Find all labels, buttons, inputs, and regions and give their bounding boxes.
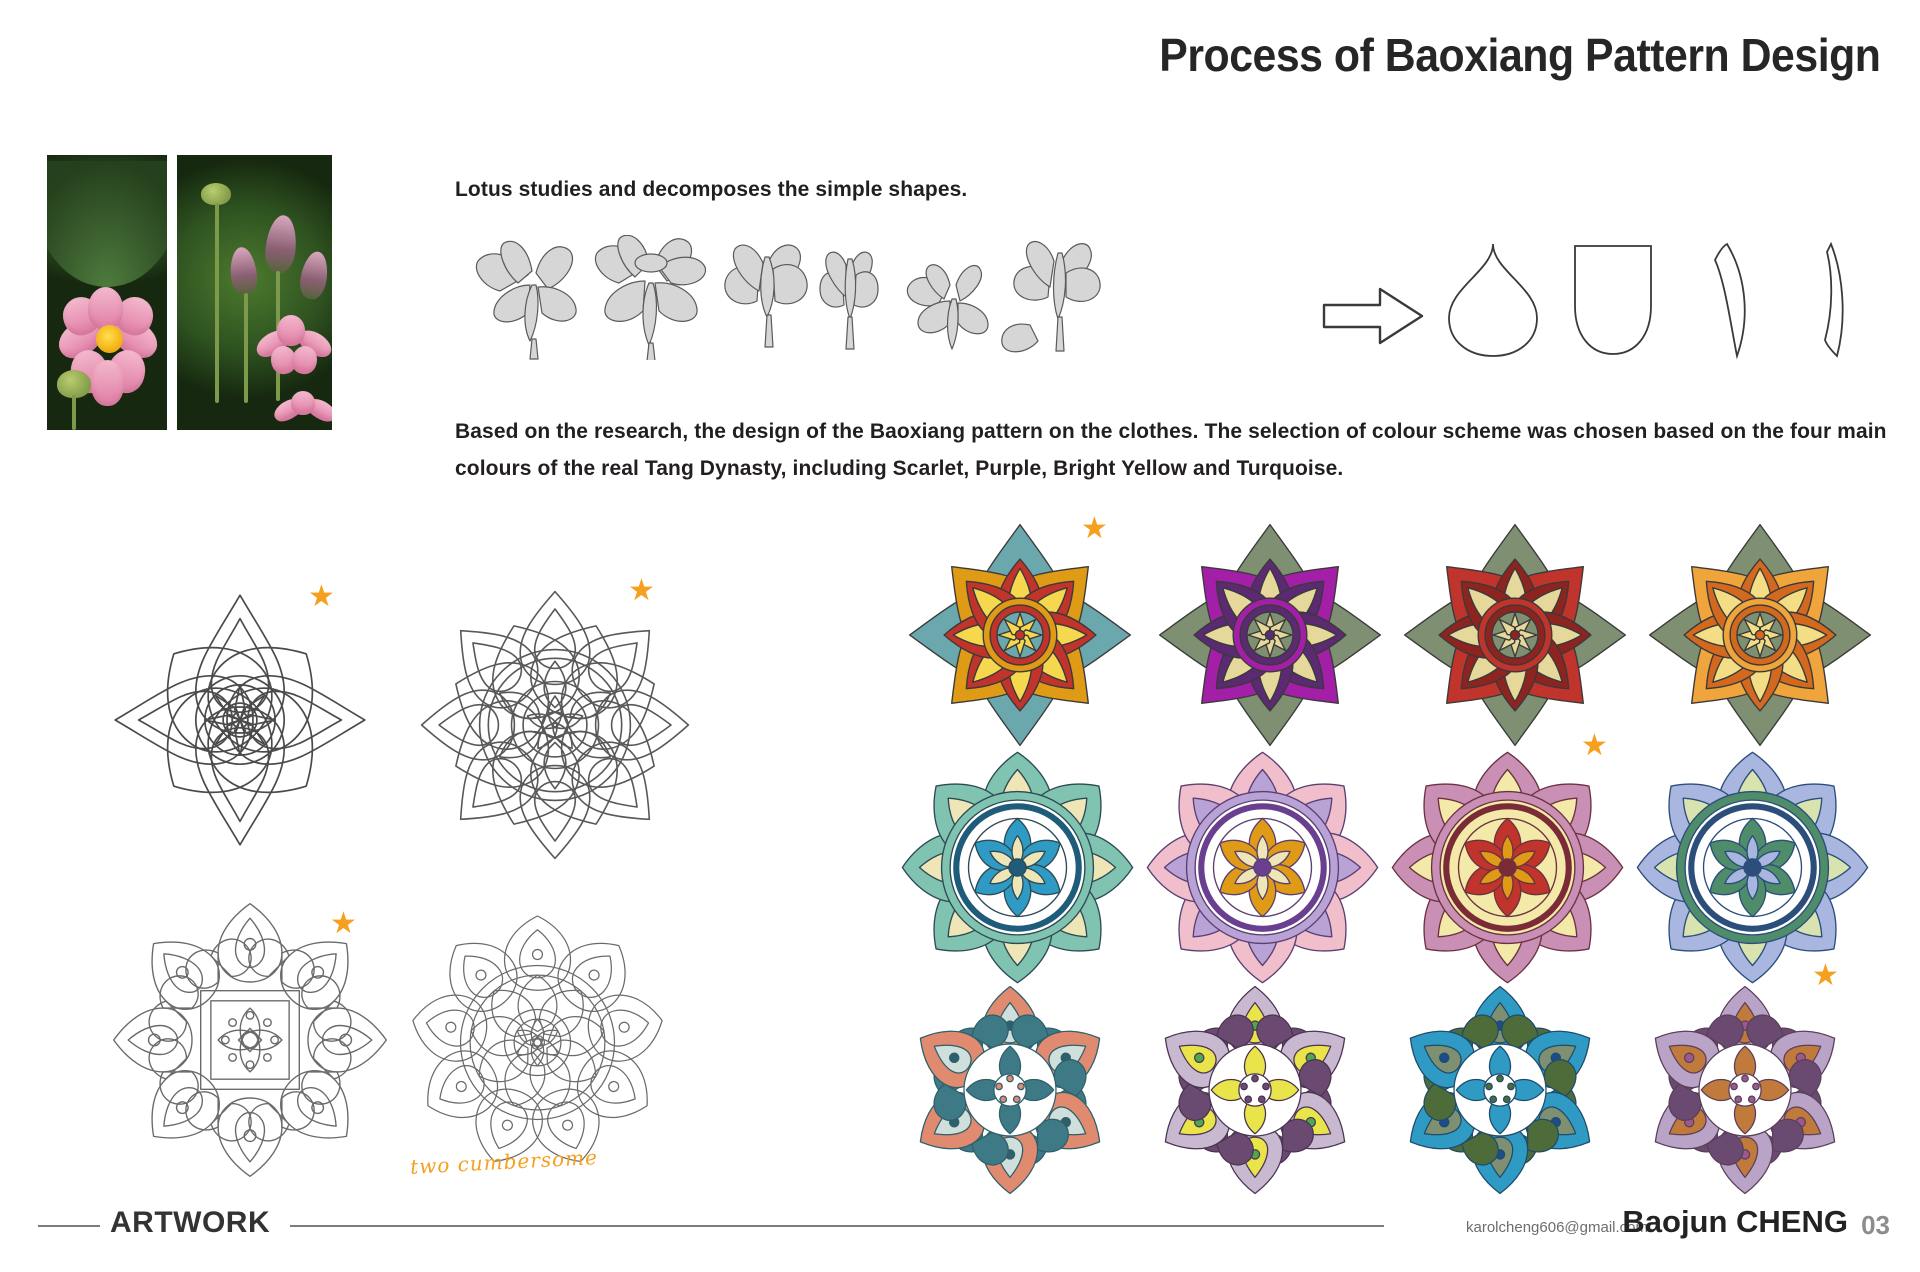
crescent-leaf-shape [1715, 244, 1745, 356]
star-marker-icon: ★ [1581, 731, 1608, 761]
colour-mandala-3-2[interactable] [1140, 975, 1370, 1205]
colour-mandala-2-1[interactable] [895, 745, 1140, 990]
outline-mandala-1[interactable]: ★ [110, 590, 370, 850]
star-marker-icon: ★ [1081, 514, 1108, 544]
colour-mandala-3-4[interactable]: ★ [1630, 975, 1860, 1205]
outline-mandala-3[interactable]: ★ [105, 895, 395, 1185]
star-marker-icon: ★ [308, 582, 335, 612]
lotus-bloom-photo [47, 155, 167, 430]
footer-author-name: Baojun CHENG [1622, 1204, 1848, 1240]
outline-mandala-2[interactable]: ★ [410, 580, 700, 870]
colour-mandala-1-1[interactable]: ★ [905, 520, 1135, 750]
outline-mandala-4[interactable] [400, 905, 675, 1180]
page-title: Process of Baoxiang Pattern Design [1159, 28, 1880, 82]
abstract-shape-row [1445, 240, 1875, 360]
colour-mandala-3-1[interactable] [895, 975, 1125, 1205]
star-marker-icon: ★ [1812, 961, 1839, 991]
footer-rule-middle [290, 1225, 1384, 1227]
colour-mandala-2-4[interactable] [1630, 745, 1875, 990]
slide-page: Process of Baoxiang Pattern Design [0, 0, 1920, 1272]
lotus-buds-photo [177, 155, 332, 430]
colour-mandala-1-3[interactable] [1400, 520, 1630, 750]
colour-mandala-2-2[interactable] [1140, 745, 1385, 990]
lotus-photo-strip [47, 155, 332, 430]
footer-page-number: 03 [1861, 1210, 1890, 1241]
design-description-paragraph: Based on the research, the design of the… [455, 414, 1895, 488]
lotus-sketches-svg [460, 235, 1320, 360]
u-cup-shape [1575, 246, 1651, 354]
colour-mandala-3-3[interactable] [1385, 975, 1615, 1205]
star-marker-icon: ★ [628, 576, 655, 606]
colour-mandala-1-4[interactable] [1645, 520, 1875, 750]
footer-rule-left [38, 1225, 100, 1227]
colour-mandala-grid: ★ [905, 520, 1890, 1220]
footer-email[interactable]: karolcheng606@gmail.com [1466, 1219, 1648, 1236]
star-marker-icon: ★ [330, 909, 357, 939]
colour-mandala-2-3[interactable]: ★ [1385, 745, 1630, 990]
lotus-sketch-row [460, 235, 1320, 360]
outline-mandala-grid: ★ [110, 590, 710, 1210]
page-footer: ARTWORK karolcheng606@gmail.com Baojun C… [0, 1206, 1920, 1246]
right-arrow-icon [1322, 285, 1427, 347]
slim-stroke-shape [1825, 244, 1843, 356]
colour-mandala-1-2[interactable] [1155, 520, 1385, 750]
intro-paragraph-lotus: Lotus studies and decomposes the simple … [455, 172, 967, 209]
footer-section-label: ARTWORK [110, 1206, 270, 1240]
teardrop-shape [1449, 244, 1537, 356]
